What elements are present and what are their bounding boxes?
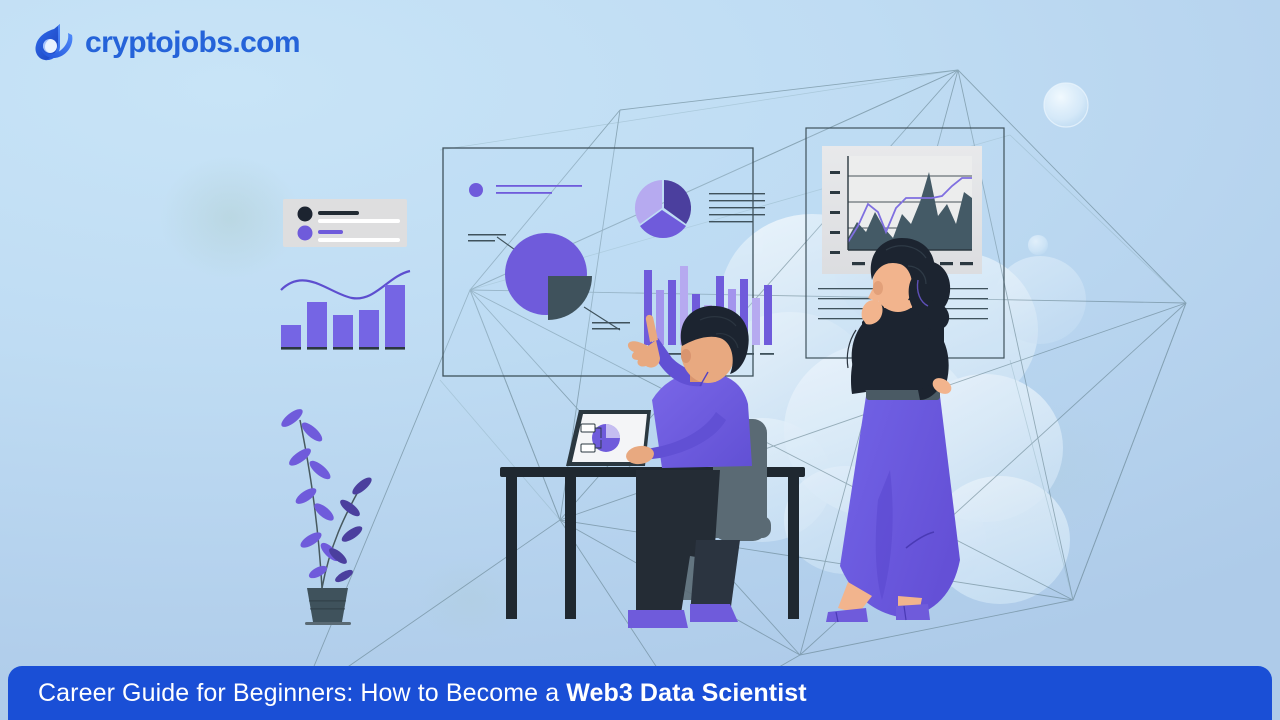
- mountain-area-chart: [848, 156, 972, 250]
- title-banner: Career Guide for Beginners: How to Becom…: [8, 666, 1272, 720]
- legend-card: [283, 199, 407, 247]
- banner-title-bold: Web3 Data Scientist: [566, 679, 806, 707]
- brand-name: cryptojobs.com: [85, 26, 300, 60]
- banner-title-regular: Career Guide for Beginners: How to Becom…: [38, 679, 566, 707]
- banner-title: Career Guide for Beginners: How to Becom…: [38, 679, 807, 708]
- potted-plant: [279, 406, 374, 625]
- cryptojobs-droplet-icon: [34, 22, 74, 64]
- illustration-hero-canvas: cryptojobs.com Career Guide for Beginner…: [0, 0, 1280, 720]
- mini-bar-chart: [281, 271, 410, 350]
- illustration-figures: [0, 0, 1280, 720]
- brand-logo[interactable]: cryptojobs.com: [34, 22, 300, 64]
